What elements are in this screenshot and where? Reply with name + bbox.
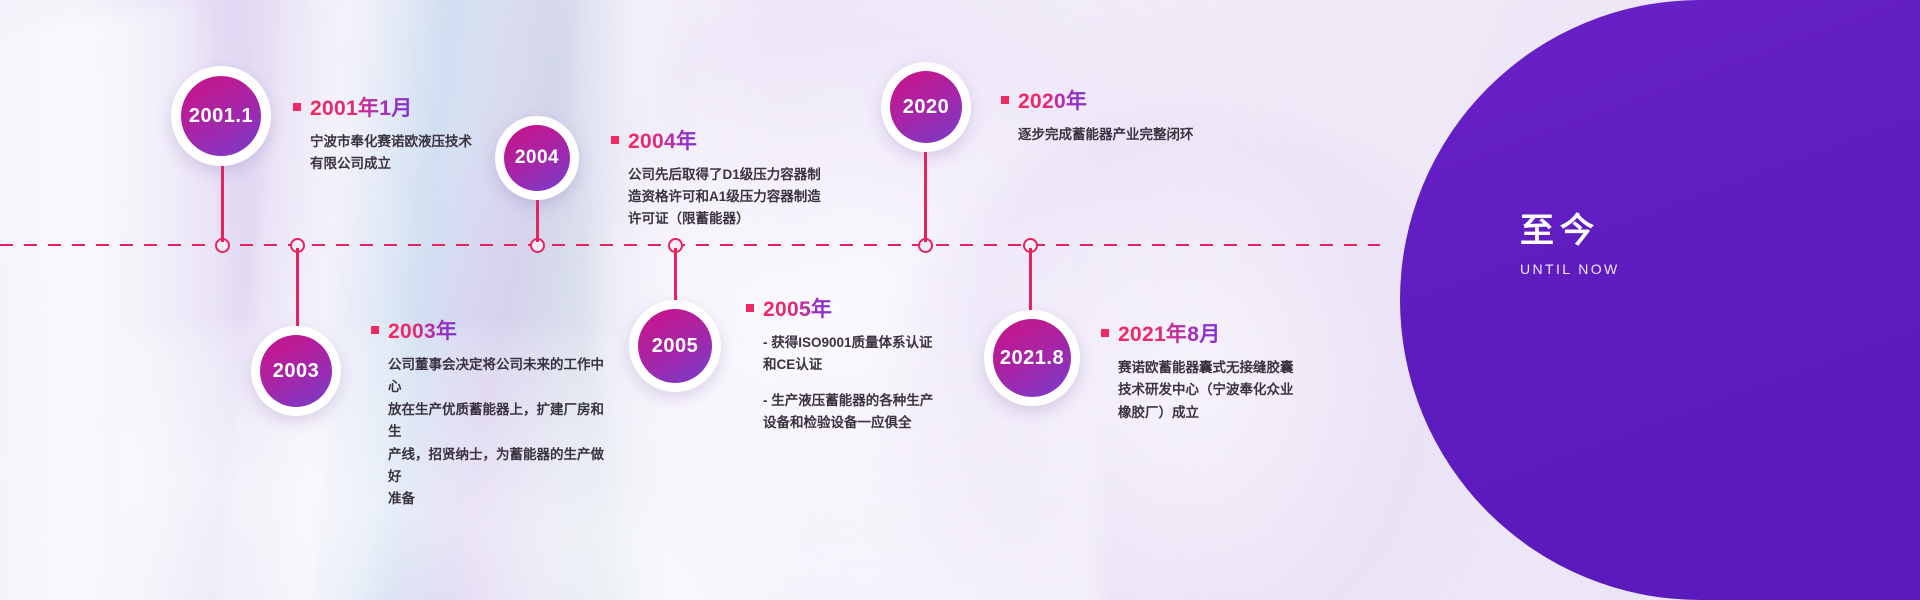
badge-2021[interactable]: 2021.8 [984,310,1080,406]
stem-2020 [924,152,927,242]
badge-2003[interactable]: 2003 [251,326,341,416]
stem-2003 [296,248,299,326]
milestone-2004: 2004年 公司先后取得了D1级压力容器制 造资格许可和A1级压力容器制造 许可… [611,125,841,230]
timeline-axis [0,244,1380,246]
milestone-2001: 2001年1月 宁波市奉化赛诺欧液压技术 有限公司成立 [293,92,493,175]
stem-2004 [536,196,539,242]
milestone-2020-body: 逐步完成蓄能器产业完整闭环 [1018,124,1301,146]
milestone-2003-year: 2003年 [388,315,457,345]
milestone-2005-body-part1: - 获得ISO9001质量体系认证 和CE认证 [763,332,986,376]
bullet-icon [746,304,754,312]
milestone-2021-body: 赛诺欧蓄能器囊式无接缝胶囊 技术研发中心（宁波奉化众业 橡胶厂）成立 [1118,357,1351,424]
until-now-title-cn: 至今 [1520,214,1620,248]
bullet-icon [611,136,619,144]
bullet-icon [1001,96,1009,104]
stem-2001 [221,160,224,242]
badge-2005[interactable]: 2005 [629,300,721,392]
milestone-2021: 2021年8月 赛诺欧蓄能器囊式无接缝胶囊 技术研发中心（宁波奉化众业 橡胶厂）… [1101,318,1351,424]
milestone-2020-year: 2020年 [1018,85,1087,115]
badge-2020[interactable]: 2020 [881,62,971,152]
badge-2020-label: 2020 [890,71,962,143]
badge-2001[interactable]: 2001.1 [171,66,271,166]
badge-2005-label: 2005 [638,309,712,383]
milestone-2003: 2003年 公司董事会决定将公司未来的工作中心 放在生产优质蓄能器上，扩建厂房和… [371,315,611,511]
milestone-2005: 2005年 - 获得ISO9001质量体系认证 和CE认证 - 生产液压蓄能器的… [746,293,986,433]
timeline-infographic: 2001.1 2004 2020 2003 2005 2021.8 2001年1… [0,0,1920,600]
badge-2003-label: 2003 [260,335,332,407]
stem-2021 [1029,248,1032,310]
bullet-icon [371,326,379,334]
badge-2004[interactable]: 2004 [495,116,579,200]
background-wave-1 [0,0,721,600]
badge-2021-label: 2021.8 [993,319,1071,397]
milestone-2004-year: 2004年 [628,125,697,155]
milestone-2003-body: 公司董事会决定将公司未来的工作中心 放在生产优质蓄能器上，扩建厂房和生 产线，招… [388,354,611,511]
badge-2001-label: 2001.1 [181,76,261,156]
milestone-2001-year: 2001年1月 [310,92,413,122]
milestone-2004-body: 公司先后取得了D1级压力容器制 造资格许可和A1级压力容器制造 许可证（限蓄能器… [628,164,841,230]
until-now-title-en: UNTIL NOW [1520,261,1620,277]
milestone-2021-year: 2021年8月 [1118,318,1221,348]
milestone-2001-body: 宁波市奉化赛诺欧液压技术 有限公司成立 [310,131,493,175]
until-now-text-group: 至今 UNTIL NOW [1520,214,1620,277]
bullet-icon [1101,329,1109,337]
badge-2004-label: 2004 [504,125,570,191]
until-now-panel: 至今 UNTIL NOW [1400,0,1920,600]
milestone-2005-body-part2: - 生产液压蓄能器的各种生产 设备和检验设备一应俱全 [763,390,986,434]
milestone-2005-year: 2005年 [763,293,832,323]
milestone-2020: 2020年 逐步完成蓄能器产业完整闭环 [1001,85,1301,146]
bullet-icon [293,103,301,111]
